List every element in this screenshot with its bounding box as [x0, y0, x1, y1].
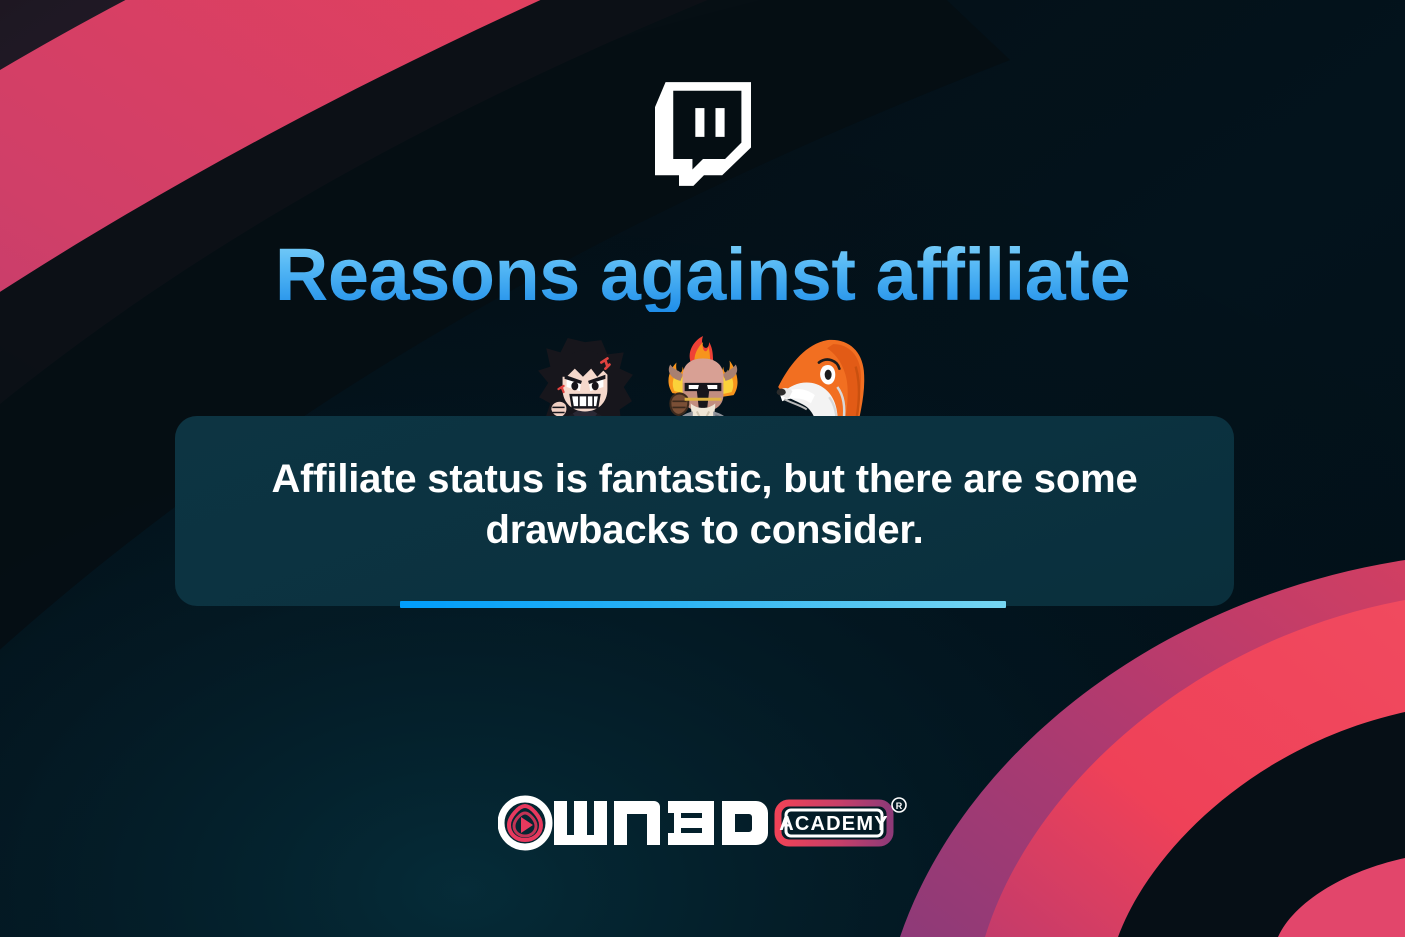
own3d-academy-logo: ACADEMY R	[0, 795, 1405, 851]
svg-text:R: R	[895, 801, 902, 811]
play-triangle-icon	[501, 799, 549, 847]
twitch-logo-container	[0, 82, 1405, 186]
academy-badge: ACADEMY	[778, 803, 890, 843]
slide-canvas: Reasons against affiliate	[0, 0, 1405, 937]
caption-card: Affiliate status is fantastic, but there…	[175, 416, 1234, 606]
own3d-wordmark	[554, 801, 768, 845]
accent-underline	[400, 601, 1006, 608]
academy-text: ACADEMY	[779, 813, 889, 835]
trademark-symbol: R	[892, 798, 906, 812]
page-title: Reasons against affiliate	[0, 238, 1405, 312]
twitch-logo-icon	[655, 82, 751, 186]
caption-text: Affiliate status is fantastic, but there…	[221, 454, 1188, 556]
own3d-academy-logo-svg: ACADEMY R	[498, 795, 908, 851]
